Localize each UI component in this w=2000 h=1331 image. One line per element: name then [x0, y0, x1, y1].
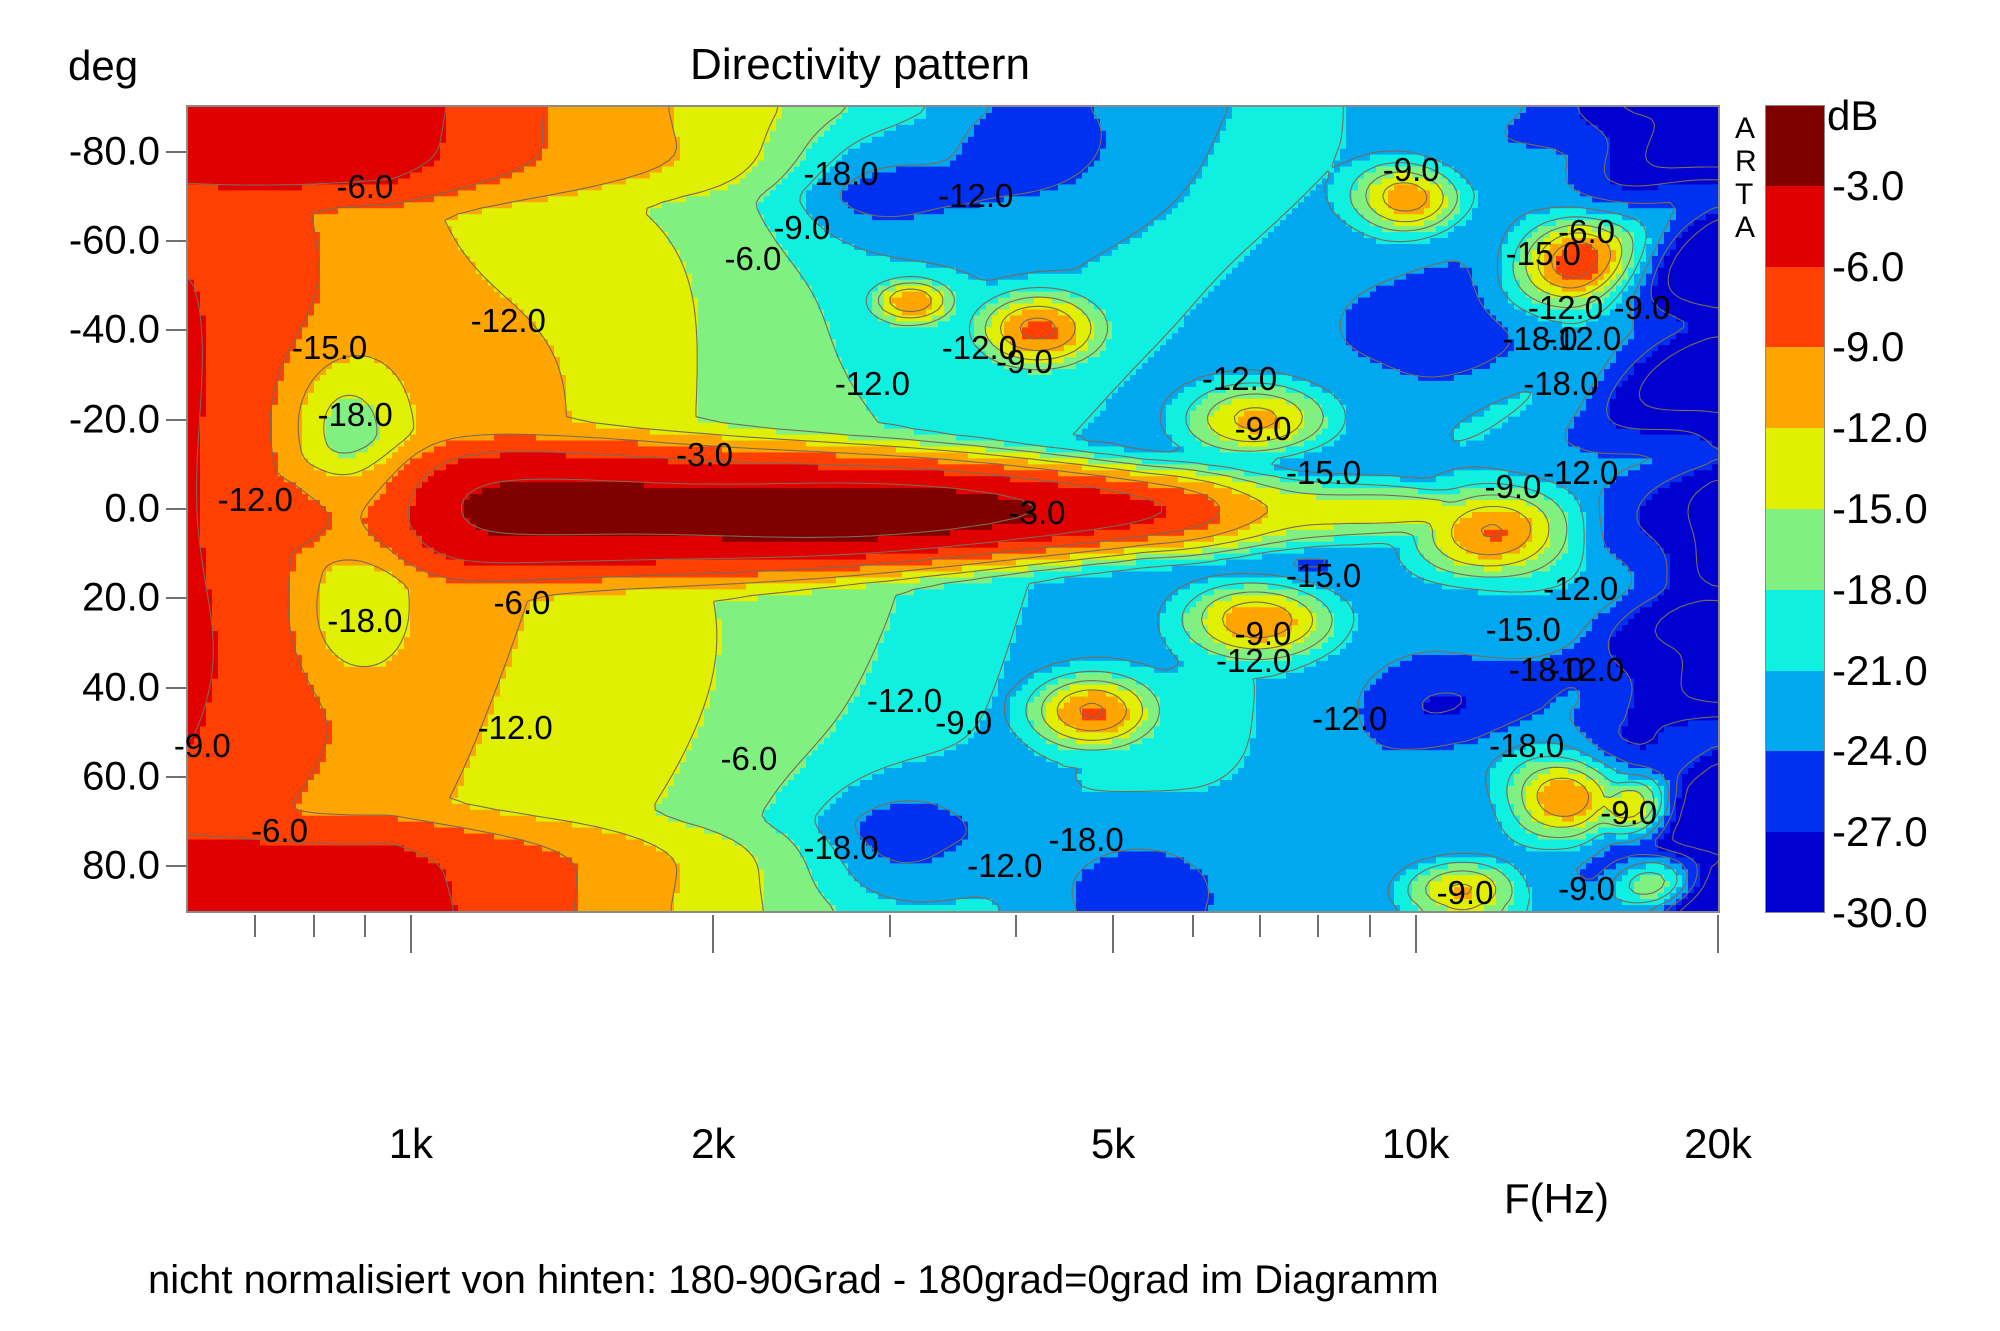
contour-plot-area [186, 105, 1720, 913]
arta-watermark-letter: R [1735, 145, 1757, 178]
contour-level-label: -6.0 [720, 740, 777, 778]
y-tick-label: -40.0 [0, 308, 160, 353]
y-tick-label: -20.0 [0, 397, 160, 442]
x-tick-label: 2k [691, 1120, 735, 1168]
contour-level-label: -12.0 [1543, 454, 1618, 492]
x-tick-mark-major [712, 915, 714, 953]
contour-level-label: -12.0 [835, 365, 910, 403]
contour-level-label: -3.0 [676, 436, 733, 474]
colorbar-tick-label: -12.0 [1832, 404, 1928, 452]
arta-watermark-letter: T [1735, 178, 1757, 211]
x-tick-mark-minor [1317, 915, 1319, 937]
x-tick-mark-major [1717, 915, 1719, 953]
colorbar-tick-label: -27.0 [1832, 808, 1928, 856]
contour-level-label: -9.0 [1484, 468, 1541, 506]
x-tick-mark-minor [1369, 915, 1371, 937]
y-axis-label: deg [68, 42, 138, 90]
page-title: Directivity pattern [0, 40, 1720, 90]
colorbar-band [1765, 105, 1825, 186]
x-tick-mark-minor [313, 915, 315, 937]
directivity-chart-page: Directivity pattern deg F(Hz) nicht norm… [0, 0, 2000, 1331]
contour-level-label: -9.0 [1437, 874, 1494, 912]
y-tick-label: 60.0 [0, 755, 160, 800]
y-tick-mark [166, 865, 186, 867]
contour-level-label: -9.0 [1613, 289, 1670, 327]
x-tick-mark-minor [1259, 915, 1261, 937]
contour-level-label: -12.0 [1312, 700, 1387, 738]
colorbar-tick-label: -18.0 [1832, 566, 1928, 614]
contour-level-label: -9.0 [1558, 870, 1615, 908]
colorbar-band [1765, 347, 1825, 428]
y-tick-label: 0.0 [0, 487, 160, 532]
contour-plot-svg [188, 107, 1718, 911]
y-tick-mark [166, 240, 186, 242]
y-tick-mark [166, 151, 186, 153]
y-tick-label: 40.0 [0, 665, 160, 710]
contour-level-label: -12.0 [938, 177, 1013, 215]
x-tick-mark-minor [1015, 915, 1017, 937]
y-tick-label: -80.0 [0, 129, 160, 174]
colorbar-tick-label: -24.0 [1832, 727, 1928, 775]
x-tick-mark-minor [364, 915, 366, 937]
x-tick-mark-minor [254, 915, 256, 937]
contour-level-label: -18.0 [1489, 727, 1564, 765]
contour-level-label: -3.0 [1009, 494, 1066, 532]
contour-level-label: -6.0 [724, 240, 781, 278]
x-axis-label: F(Hz) [1504, 1175, 1609, 1223]
colorbar-tick-label: -21.0 [1832, 647, 1928, 695]
colorbar-unit-label: dB [1827, 92, 1878, 140]
y-tick-mark [166, 687, 186, 689]
y-tick-label: -60.0 [0, 219, 160, 264]
arta-watermark-letter: A [1735, 211, 1757, 244]
y-tick-label: 20.0 [0, 576, 160, 621]
contour-level-label: -9.0 [174, 727, 231, 765]
x-tick-label: 1k [389, 1120, 433, 1168]
contour-level-label: -6.0 [251, 812, 308, 850]
contour-level-label: -9.0 [1235, 410, 1292, 448]
y-tick-mark [166, 597, 186, 599]
contour-level-label: -12.0 [1543, 570, 1618, 608]
arta-watermark: ARTA [1735, 112, 1757, 244]
contour-level-label: -9.0 [935, 704, 992, 742]
y-tick-mark [166, 329, 186, 331]
contour-level-label: -15.0 [1486, 611, 1561, 649]
colorbar-band [1765, 267, 1825, 348]
contour-level-label: -12.0 [1546, 320, 1621, 358]
contour-level-label: -18.0 [317, 396, 392, 434]
contour-level-label: -12.0 [218, 481, 293, 519]
x-tick-mark-minor [889, 915, 891, 937]
contour-level-label: -6.0 [494, 584, 551, 622]
contour-level-label: -18.0 [1523, 365, 1598, 403]
colorbar-band [1765, 509, 1825, 590]
contour-level-label: -12.0 [471, 302, 546, 340]
contour-level-label: -15.0 [1506, 235, 1581, 273]
x-tick-mark-minor [1192, 915, 1194, 937]
colorbar-band [1765, 428, 1825, 509]
contour-level-label: -12.0 [1549, 651, 1624, 689]
colorbar-tick-label: -3.0 [1832, 162, 1904, 210]
contour-level-label: -12.0 [1216, 642, 1291, 680]
figure-caption: nicht normalisiert von hinten: 180-90Gra… [148, 1258, 1439, 1303]
x-tick-label: 20k [1684, 1120, 1752, 1168]
y-tick-mark [166, 508, 186, 510]
x-tick-label: 10k [1382, 1120, 1450, 1168]
contour-level-label: -9.0 [996, 343, 1053, 381]
y-tick-mark [166, 776, 186, 778]
y-tick-mark [166, 419, 186, 421]
colorbar-tick-label: -9.0 [1832, 323, 1904, 371]
contour-level-label: -18.0 [327, 602, 402, 640]
contour-level-label: -15.0 [1286, 557, 1361, 595]
colorbar-band [1765, 186, 1825, 267]
colorbar-band [1765, 751, 1825, 832]
contour-level-label: -12.0 [867, 682, 942, 720]
x-tick-mark-major [410, 915, 412, 953]
colorbar-tick-label: -15.0 [1832, 485, 1928, 533]
contour-level-label: -18.0 [803, 829, 878, 867]
arta-watermark-letter: A [1735, 112, 1757, 145]
colorbar-tick-label: -6.0 [1832, 243, 1904, 291]
colorbar-band [1765, 590, 1825, 671]
colorbar-band [1765, 832, 1825, 913]
contour-level-label: -18.0 [803, 155, 878, 193]
contour-level-label: -12.0 [1202, 360, 1277, 398]
colorbar-tick-label: -30.0 [1832, 889, 1928, 937]
x-tick-mark-major [1112, 915, 1114, 953]
contour-level-label: -15.0 [292, 329, 367, 367]
x-tick-mark-major [1415, 915, 1417, 953]
contour-level-label: -9.0 [773, 209, 830, 247]
contour-level-label: -18.0 [1049, 821, 1124, 859]
contour-level-label: -9.0 [1600, 794, 1657, 832]
contour-level-label: -9.0 [1383, 151, 1440, 189]
contour-level-label: -12.0 [478, 709, 553, 747]
x-tick-label: 5k [1091, 1120, 1135, 1168]
contour-level-label: -15.0 [1286, 454, 1361, 492]
contour-level-label: -6.0 [336, 168, 393, 206]
contour-level-label: -12.0 [967, 847, 1042, 885]
y-tick-label: 80.0 [0, 844, 160, 889]
colorbar-band [1765, 671, 1825, 752]
